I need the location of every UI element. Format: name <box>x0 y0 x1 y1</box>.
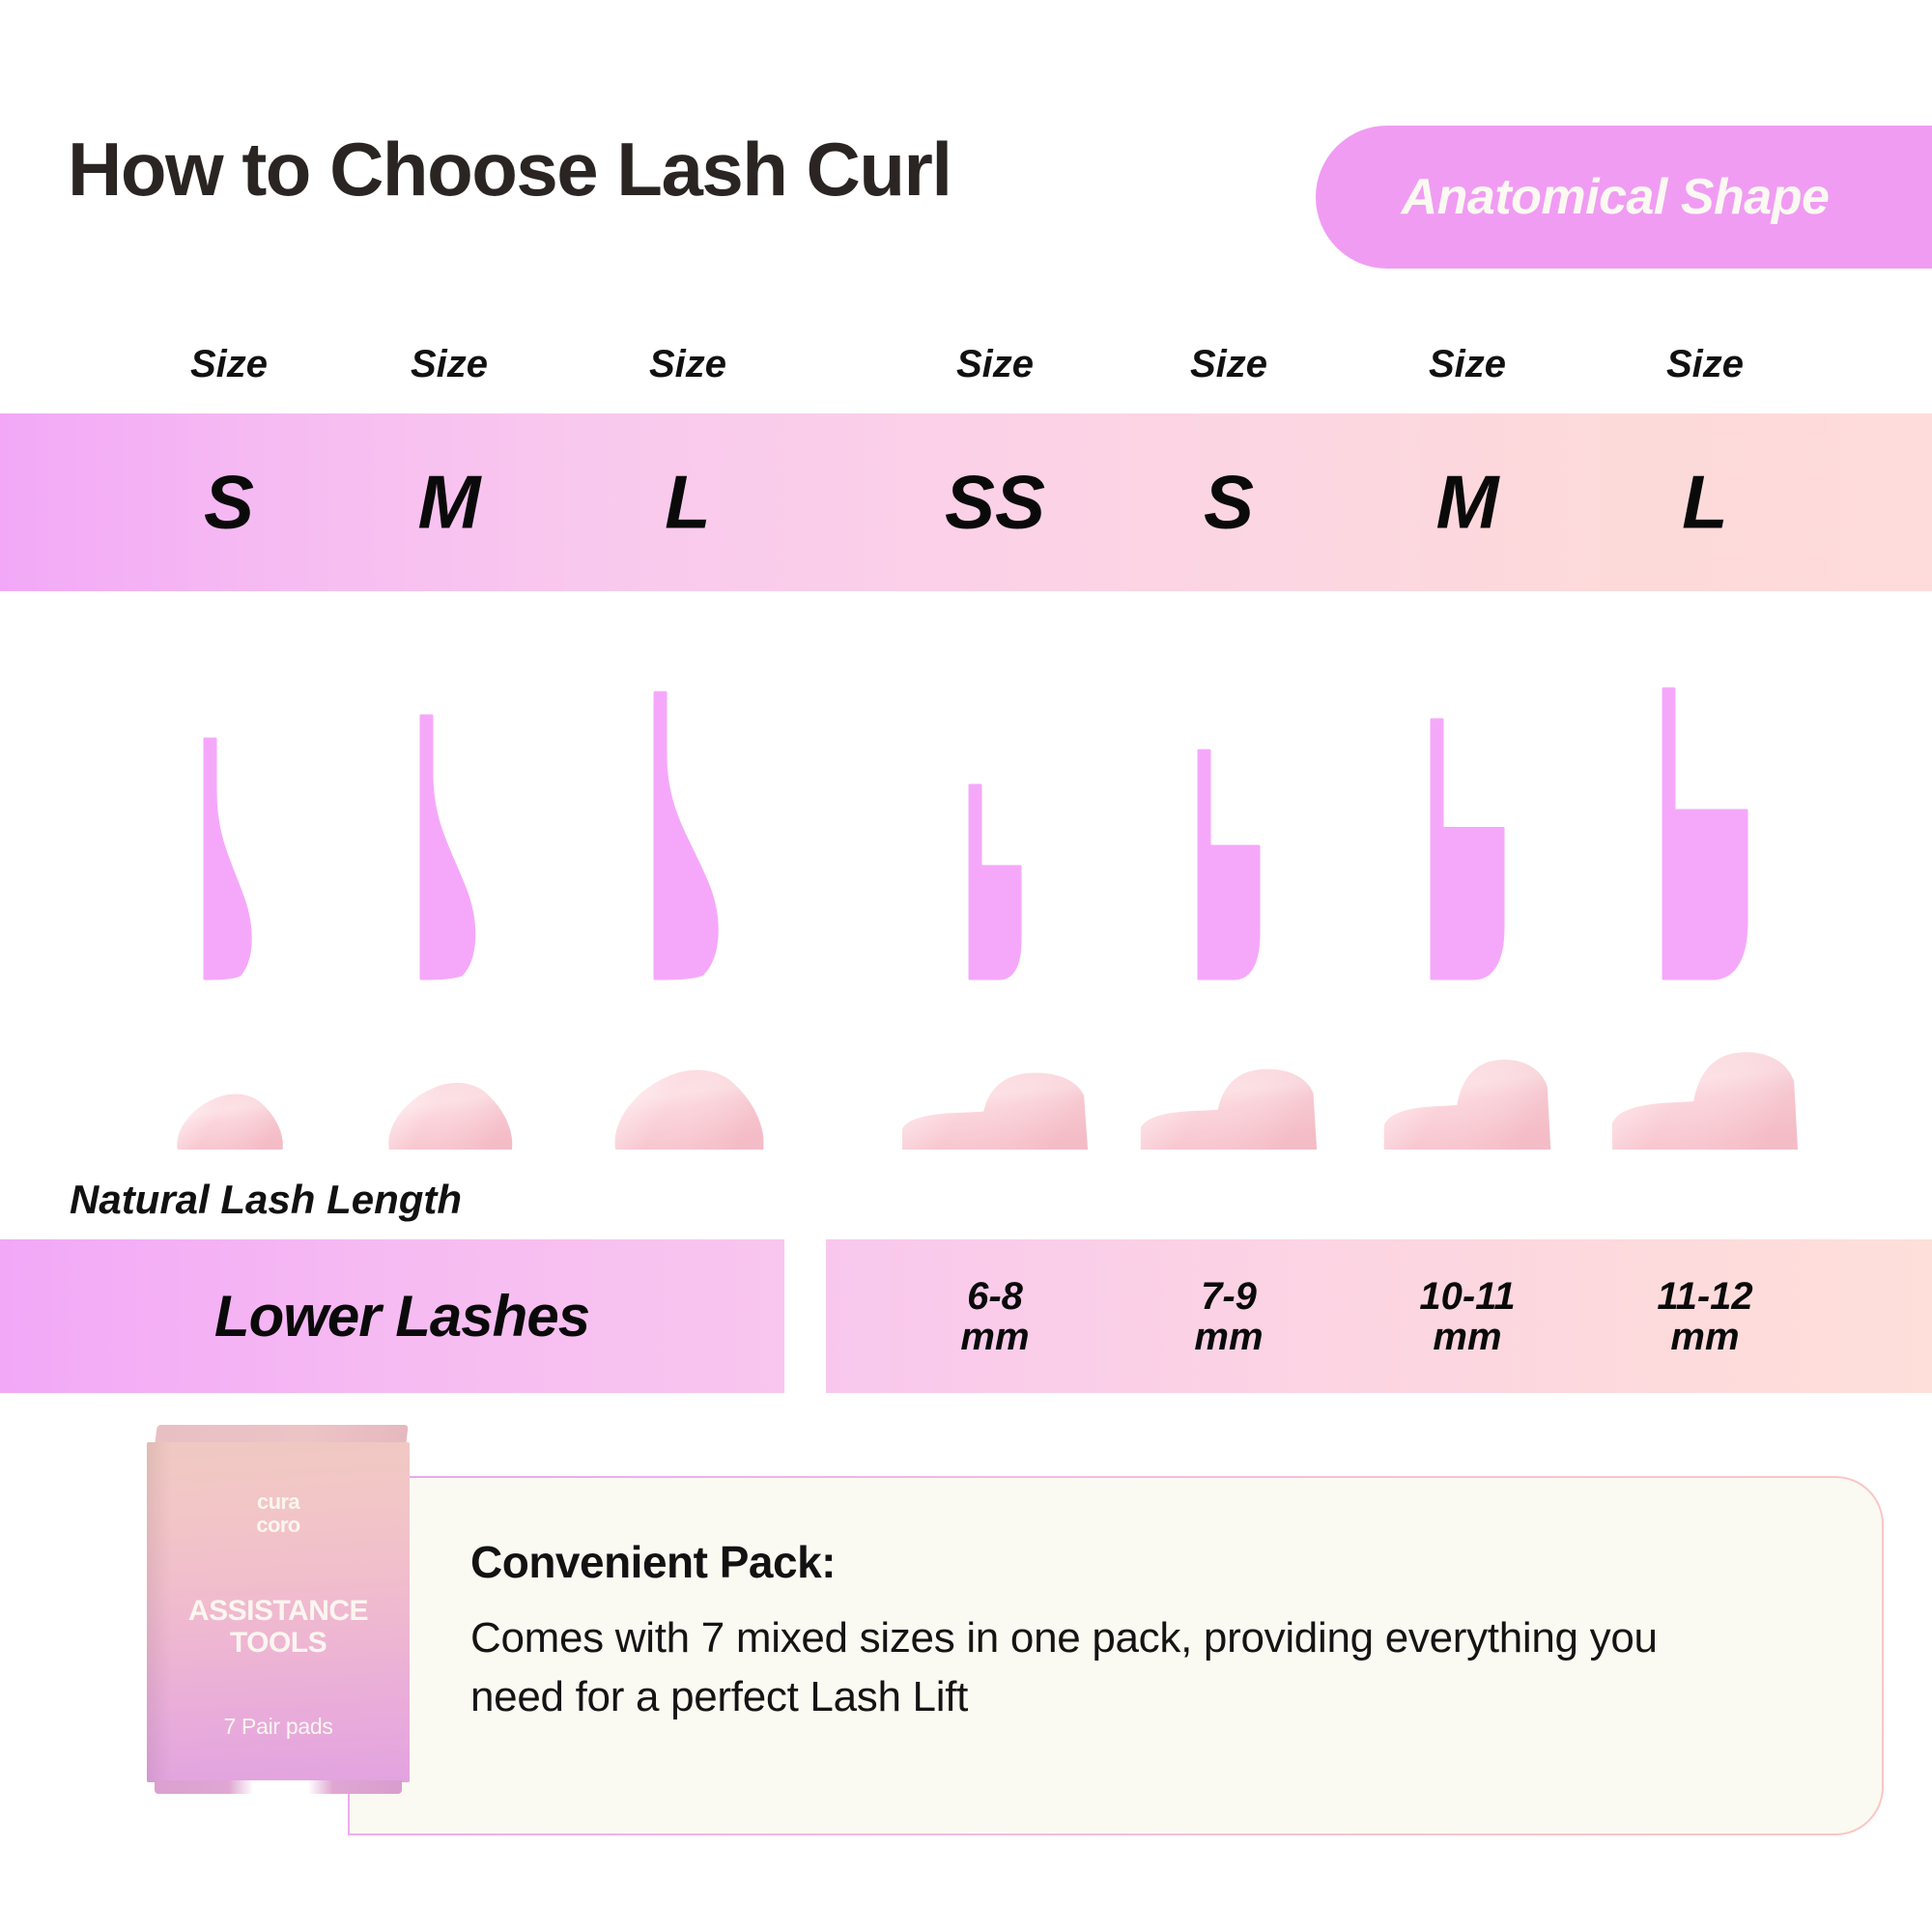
size-letter-0: S <box>204 459 254 547</box>
size-word-2: Size <box>649 343 726 386</box>
lower-lashes-label: Lower Lashes <box>195 1283 589 1350</box>
measurement-bar: 6-8mm7-9mm10-11mm11-12mm <box>826 1239 1932 1393</box>
measurement-value-3: 11-12 <box>1657 1276 1752 1317</box>
silicone-pad-4 <box>1139 1066 1319 1154</box>
box-bottom-feet <box>155 1780 402 1794</box>
silicone-pad-3 <box>900 1070 1090 1154</box>
size-word-5: Size <box>1429 343 1506 386</box>
size-letter-2: L <box>665 459 711 547</box>
measurement-2: 10-11mm <box>1419 1276 1515 1357</box>
badge-label: Anatomical Shape <box>1402 168 1847 226</box>
silicone-pad-2 <box>608 1066 768 1154</box>
product-name: ASSISTANCE TOOLS <box>188 1595 368 1660</box>
lash-curl-shape-4 <box>1197 749 1261 985</box>
measurement-unit-3: mm <box>1657 1317 1752 1357</box>
lash-curl-shape-6 <box>1662 687 1748 985</box>
page-header: How to Choose Lash Curl Anatomical Shape <box>0 0 1932 290</box>
anatomical-shape-badge: Anatomical Shape <box>1316 126 1932 269</box>
silicone-pad-6 <box>1610 1049 1800 1154</box>
product-name-line-1: ASSISTANCE <box>188 1595 368 1628</box>
silicone-pad-0 <box>172 1092 286 1154</box>
size-letter-1: M <box>418 459 481 547</box>
silicone-pad-1 <box>383 1080 516 1154</box>
size-letter-4: S <box>1204 459 1254 547</box>
product-name-line-2: TOOLS <box>188 1627 368 1660</box>
callout-title: Convenient Pack: <box>470 1536 1726 1588</box>
size-word-3: Size <box>956 343 1034 386</box>
brand-line-2: coro <box>256 1514 299 1537</box>
brand-logo: cura coro <box>256 1491 299 1537</box>
lash-curl-shape-2 <box>653 691 723 985</box>
measurement-unit-0: mm <box>960 1317 1029 1357</box>
lash-curl-shape-0 <box>203 737 255 985</box>
product-box: cura coro ASSISTANCE TOOLS 7 Pair pads <box>147 1425 410 1802</box>
measurement-unit-1: mm <box>1194 1317 1263 1357</box>
measurement-0: 6-8mm <box>960 1276 1029 1357</box>
measurement-value-2: 10-11 <box>1419 1276 1515 1317</box>
silicone-pad-row <box>0 1019 1932 1154</box>
product-quantity: 7 Pair pads <box>223 1714 332 1740</box>
convenient-pack-callout: Convenient Pack: Comes with 7 mixed size… <box>348 1476 1884 1835</box>
natural-lash-length-label: Natural Lash Length <box>70 1177 462 1223</box>
size-word-6: Size <box>1666 343 1744 386</box>
measurement-value-1: 7-9 <box>1194 1276 1263 1317</box>
lash-curl-shape-5 <box>1430 718 1505 985</box>
lash-curl-shape-3 <box>968 783 1022 985</box>
measurement-value-0: 6-8 <box>960 1276 1029 1317</box>
size-word-1: Size <box>411 343 488 386</box>
size-letter-5: M <box>1436 459 1499 547</box>
size-letter-6: L <box>1682 459 1728 547</box>
page-title: How to Choose Lash Curl <box>68 126 952 213</box>
size-gradient-bar: SMLSSSML <box>0 413 1932 591</box>
lash-curl-shape-1 <box>419 714 479 985</box>
size-word-4: Size <box>1190 343 1267 386</box>
brand-line-1: cura <box>256 1491 299 1514</box>
size-word-0: Size <box>190 343 268 386</box>
size-letter-3: SS <box>945 459 1045 547</box>
measurement-1: 7-9mm <box>1194 1276 1263 1357</box>
lower-lashes-bar: Lower Lashes <box>0 1239 784 1393</box>
silicone-pad-5 <box>1382 1057 1552 1154</box>
size-label-row: SizeSizeSizeSizeSizeSizeSize <box>0 343 1932 406</box>
callout-body: Comes with 7 mixed sizes in one pack, pr… <box>470 1609 1726 1726</box>
measurement-unit-2: mm <box>1419 1317 1515 1357</box>
measurement-3: 11-12mm <box>1657 1276 1752 1357</box>
lash-shape-row <box>0 618 1932 985</box>
